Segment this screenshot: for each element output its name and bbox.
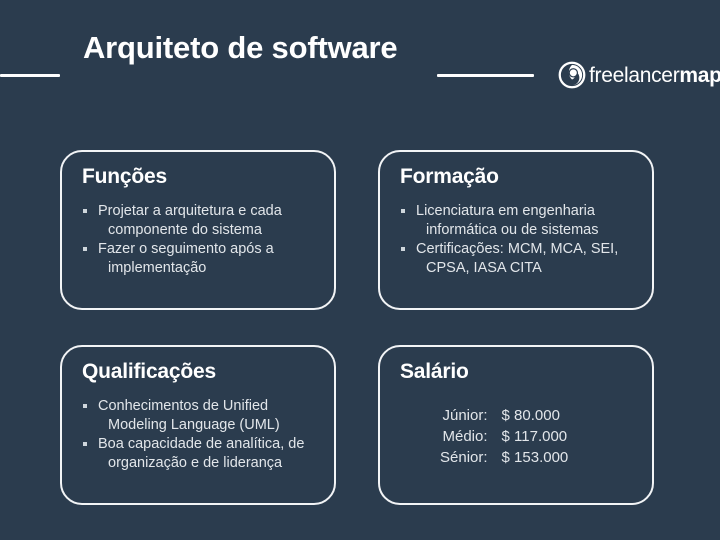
list-item-text: Boa capacidade de analítica, de organiza…	[98, 436, 304, 471]
card-title-funcoes: Funções	[82, 164, 167, 190]
table-row: Sénior: $ 153.000	[440, 447, 568, 468]
list-item: Licenciatura em engenharia informática o…	[398, 202, 644, 239]
list-item: Conhecimentos de Unified Modeling Langua…	[80, 397, 326, 434]
salary-level-label: Sénior:	[440, 447, 502, 468]
card-body-funcoes: Projetar a arquitetura e cada componente…	[80, 202, 326, 278]
square-bullet-icon	[83, 247, 87, 251]
logo-word-light: freelancer	[589, 64, 679, 87]
infographic-slide: { "theme": { "background": "#2b3c4e", "c…	[0, 0, 720, 540]
list-item: Boa capacidade de analítica, de organiza…	[80, 435, 326, 472]
square-bullet-icon	[83, 442, 87, 446]
list-item-text: Licenciatura em engenharia informática o…	[416, 203, 598, 238]
square-bullet-icon	[83, 404, 87, 408]
card-body-salario: Júnior: $ 80.000 Médio: $ 117.000 Sénior…	[398, 397, 644, 468]
card-title-formacao: Formação	[400, 164, 499, 190]
salary-table: Júnior: $ 80.000 Médio: $ 117.000 Sénior…	[440, 405, 568, 468]
list-item: Projetar a arquitetura e cada componente…	[80, 202, 326, 239]
card-body-qualificacoes: Conhecimentos de Unified Modeling Langua…	[80, 397, 326, 473]
card-salario[interactable]: Salário Júnior: $ 80.000 Médio: $ 117.00…	[378, 345, 654, 505]
table-row: Médio: $ 117.000	[440, 426, 568, 447]
list-item: Certificações: MCM, MCA, SEI, CPSA, IASA…	[398, 240, 644, 277]
freelancermap-wordmark: freelancermap	[589, 65, 720, 86]
list-item-text: Projetar a arquitetura e cada componente…	[98, 203, 282, 238]
card-qualificacoes[interactable]: Qualificações Conhecimentos de Unified M…	[60, 345, 336, 505]
square-bullet-icon	[401, 209, 405, 213]
bullet-list-qualificacoes: Conhecimentos de Unified Modeling Langua…	[80, 397, 326, 472]
salary-level-label: Médio:	[440, 426, 502, 447]
list-item-text: Certificações: MCM, MCA, SEI, CPSA, IASA…	[416, 241, 618, 276]
salary-level-label: Júnior:	[440, 405, 502, 426]
card-title-qualificacoes: Qualificações	[82, 359, 216, 385]
decorative-rule-left	[0, 74, 60, 77]
list-item-text: Fazer o seguimento após a implementação	[98, 241, 274, 276]
list-item-text: Conhecimentos de Unified Modeling Langua…	[98, 398, 280, 433]
bullet-list-formacao: Licenciatura em engenharia informática o…	[398, 202, 644, 277]
salary-amount: $ 80.000	[502, 405, 569, 426]
card-formacao[interactable]: Formação Licenciatura em engenharia info…	[378, 150, 654, 310]
table-row: Júnior: $ 80.000	[440, 405, 568, 426]
card-title-salario: Salário	[400, 359, 469, 385]
freelancermap-logo[interactable]: freelancermap	[558, 60, 720, 90]
card-body-formacao: Licenciatura em engenharia informática o…	[398, 202, 644, 278]
list-item: Fazer o seguimento após a implementação	[80, 240, 326, 277]
decorative-rule-right	[437, 74, 534, 77]
header: Arquiteto de software freelancermap	[0, 0, 720, 140]
salary-amount: $ 117.000	[502, 426, 569, 447]
page-title: Arquiteto de software	[83, 29, 413, 67]
freelancermap-swirl-icon	[558, 61, 586, 89]
bullet-list-funcoes: Projetar a arquitetura e cada componente…	[80, 202, 326, 277]
square-bullet-icon	[401, 247, 405, 251]
square-bullet-icon	[83, 209, 87, 213]
logo-word-bold: map	[679, 64, 720, 87]
salary-amount: $ 153.000	[502, 447, 569, 468]
card-funcoes[interactable]: Funções Projetar a arquitetura e cada co…	[60, 150, 336, 310]
